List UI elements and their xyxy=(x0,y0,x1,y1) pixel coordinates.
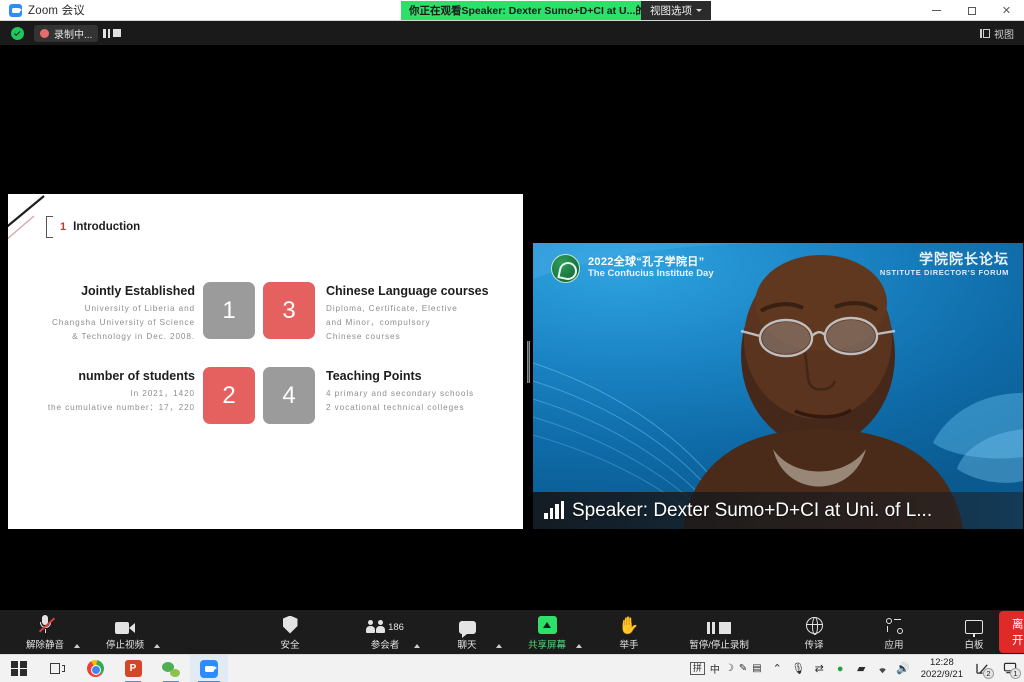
maximize-icon xyxy=(968,7,976,15)
green-status-icon[interactable]: ● xyxy=(830,655,851,682)
meeting-controls-toolbar: 解除静音 停止视频 安全 xyxy=(0,610,1024,654)
whiteboard-label: 白板 xyxy=(964,637,983,651)
window-title: Zoom 会议 xyxy=(28,2,85,18)
security-button[interactable]: 安全 xyxy=(265,610,315,654)
microphone-muted-icon xyxy=(39,614,52,634)
forum-title-cn: 学院院长论坛 xyxy=(880,251,1009,268)
pause-stop-recording-icon xyxy=(707,614,731,634)
speaker-video-tile[interactable]: 2022全球“孔子学院日” The Confucius Institute Da… xyxy=(533,243,1023,529)
volume-icon[interactable]: 🔊 xyxy=(893,655,914,682)
chat-options-chevron-up-icon[interactable] xyxy=(496,644,502,648)
participants-label: 参会者 xyxy=(371,637,400,651)
powerpoint-icon: P xyxy=(125,660,142,677)
clock[interactable]: 12:28 2022/9/21 xyxy=(914,657,970,681)
stop-video-button[interactable]: 停止视频 xyxy=(100,610,150,654)
audio-options-chevron-up-icon[interactable] xyxy=(74,644,80,648)
slide-number-tile: 3 xyxy=(263,282,315,339)
notifications-badge: 2 xyxy=(983,668,994,679)
zoom-meeting-window: Zoom 会议 你正在观看Speaker: Dexter Sumo+D+CI a… xyxy=(0,0,1024,682)
speaker-name-strip: Speaker: Dexter Sumo+D+CI at Uni. of L..… xyxy=(533,492,1023,529)
apps-button[interactable]: 应用 xyxy=(869,610,919,654)
video-overlay-banner: 2022全球“孔子学院日” The Confucius Institute Da… xyxy=(533,243,1023,293)
stop-icon[interactable] xyxy=(113,29,121,37)
raise-hand-icon: ✋ xyxy=(618,614,639,634)
leave-meeting-button[interactable]: 离开 xyxy=(999,611,1024,653)
shield-check-icon xyxy=(11,27,24,40)
network-icon[interactable] xyxy=(872,655,893,682)
slide-section-title: Introduction xyxy=(73,221,140,233)
share-screen-label: 共享屏幕 xyxy=(528,637,566,651)
pause-stop-recording-label: 暂停/停止录制 xyxy=(689,637,749,651)
action-center-badge: 1 xyxy=(1010,668,1021,679)
ime-mode-key: 拼 xyxy=(690,662,705,675)
apps-label: 应用 xyxy=(884,637,903,651)
raise-hand-button[interactable]: ✋ 举手 xyxy=(604,610,654,654)
participants-control-group: 186 参会者 xyxy=(360,610,420,654)
chat-button[interactable]: 聊天 xyxy=(442,610,492,654)
view-options-label: 视图选项 xyxy=(650,3,692,18)
show-hidden-icons-chevron[interactable]: ⌃ xyxy=(767,655,788,682)
zoom-icon xyxy=(200,660,218,678)
chevron-down-icon xyxy=(696,9,702,12)
slide-number-tile: 2 xyxy=(203,367,255,424)
minimize-button[interactable] xyxy=(919,0,954,21)
bracket-icon xyxy=(46,216,53,238)
screen-share-banner-text: 你正在观看Speaker: Dexter Sumo+D+CI at U...的屏… xyxy=(409,3,667,18)
slide-block-line: the cumulative number：17，220 xyxy=(8,401,195,415)
screen-share-banner: 你正在观看Speaker: Dexter Sumo+D+CI at U...的屏… xyxy=(401,1,675,20)
slide-block-text: number of students In 2021，1420 the cumu… xyxy=(8,367,203,415)
system-tray: 拼 中 ☽ ✎ ▤ ⌃ 🎙 ⇄ ● ▰ 🔊 12:28 2022/9/21 xyxy=(685,655,1024,682)
slide-number-tile: 1 xyxy=(203,282,255,339)
ime-indicator[interactable]: 拼 中 ☽ ✎ ▤ xyxy=(685,661,767,676)
settings-sliders-icon[interactable]: ⇄ xyxy=(809,655,830,682)
share-screen-button[interactable]: 共享屏幕 xyxy=(522,610,572,654)
participants-options-chevron-up-icon[interactable] xyxy=(414,644,420,648)
share-control-group: 共享屏幕 xyxy=(522,610,582,654)
slide-block-line: and Minor，compulsory xyxy=(326,316,518,330)
zoom-taskbar-button[interactable] xyxy=(190,655,228,682)
meeting-stage: 1 Introduction Jointly Established Unive… xyxy=(0,45,1024,610)
banner-text: 2022全球“孔子学院日” The Confucius Institute Da… xyxy=(588,256,714,280)
slide-block-title: Teaching Points xyxy=(326,369,518,383)
wifi-icon xyxy=(875,662,890,675)
slide-block-title: number of students xyxy=(8,369,195,383)
slide-block-line: Diploma, Certificate, Elective xyxy=(326,302,518,316)
slide-row: number of students In 2021，1420 the cumu… xyxy=(8,367,523,452)
banner-title-cn: 2022全球“孔子学院日” xyxy=(588,256,714,269)
title-bar-left: Zoom 会议 xyxy=(0,2,85,18)
view-toggle-button[interactable]: 视图 xyxy=(980,26,1014,41)
windows-start-icon xyxy=(11,661,27,677)
recording-label: 录制中... xyxy=(54,26,92,41)
chrome-icon xyxy=(87,660,104,677)
video-frame: 2022全球“孔子学院日” The Confucius Institute Da… xyxy=(533,243,1023,529)
participants-button[interactable]: 186 参会者 xyxy=(360,610,410,654)
clock-date: 2022/9/21 xyxy=(921,669,963,681)
forum-title: 学院院长论坛 NSTITUTE DIRECTOR'S FORUM xyxy=(880,251,1009,277)
share-screen-icon xyxy=(538,614,557,634)
forum-title-en: NSTITUTE DIRECTOR'S FORUM xyxy=(880,268,1009,277)
shared-screen-slide[interactable]: 1 Introduction Jointly Established Unive… xyxy=(8,194,523,529)
stop-video-label: 停止视频 xyxy=(106,637,144,651)
unmute-button[interactable]: 解除静音 xyxy=(20,610,70,654)
security-label: 安全 xyxy=(280,637,299,651)
slide-block-title: Chinese Language courses xyxy=(326,284,518,298)
drag-grip-icon xyxy=(527,341,530,383)
apps-icon xyxy=(886,614,903,634)
minimize-icon xyxy=(932,10,941,11)
whiteboard-button[interactable]: 白板 xyxy=(949,610,999,654)
windows-taskbar: P 拼 中 ☽ ✎ ▤ ⌃ 🎙 ⇄ ● ▰ xyxy=(0,654,1024,682)
slide-block-line: In 2021，1420 xyxy=(8,387,195,401)
recording-status-pill: 录制中... xyxy=(34,25,98,42)
interpretation-button[interactable]: 传译 xyxy=(789,610,839,654)
task-view-button[interactable] xyxy=(38,655,76,682)
leave-meeting-label: 离开 xyxy=(1012,619,1024,647)
slide-block-line: & Technology in Dec. 2008. xyxy=(8,330,195,344)
chat-icon xyxy=(459,614,476,634)
speaker-name-label: Speaker: Dexter Sumo+D+CI at Uni. of L..… xyxy=(572,500,932,522)
slide-number-tiles: 1 3 xyxy=(203,282,318,339)
raise-hand-label: 举手 xyxy=(619,637,638,651)
pause-stop-recording-button[interactable]: 暂停/停止录制 xyxy=(694,610,744,654)
slide-block-line: 4 primary and secondary schools xyxy=(326,387,518,401)
participants-count: 186 xyxy=(388,622,404,633)
slide-section-header: 1 Introduction xyxy=(46,216,140,238)
slide-block-line: Changsha University of Science xyxy=(8,316,195,330)
camera-icon xyxy=(115,614,135,634)
slide-number-tile: 4 xyxy=(263,367,315,424)
wechat-button[interactable] xyxy=(152,655,190,682)
banner-title-en: The Confucius Institute Day xyxy=(588,269,714,280)
audio-level-icon xyxy=(544,502,564,519)
clock-time: 12:28 xyxy=(930,657,954,669)
close-icon: ✕ xyxy=(1002,4,1011,17)
slide-number-tiles: 2 4 xyxy=(203,367,318,424)
video-options-chevron-up-icon[interactable] xyxy=(154,644,160,648)
view-layout-icon xyxy=(980,29,990,38)
view-options-button[interactable]: 视图选项 xyxy=(641,1,711,20)
notifications-button[interactable]: 2 xyxy=(970,655,997,682)
slide-block-text: Chinese Language courses Diploma, Certif… xyxy=(318,282,518,344)
window-controls: ✕ xyxy=(919,0,1024,21)
participants-icon: 186 xyxy=(366,614,404,634)
recording-controls xyxy=(103,29,121,38)
slide-content-grid: Jointly Established University of Liberi… xyxy=(8,282,523,452)
chat-label: 聊天 xyxy=(457,637,476,651)
chrome-button[interactable] xyxy=(76,655,114,682)
audio-control-group: 解除静音 xyxy=(20,610,80,654)
window-title-bar: Zoom 会议 你正在观看Speaker: Dexter Sumo+D+CI a… xyxy=(0,0,1024,21)
ime-moon-icon: ☽ xyxy=(725,663,734,674)
zoom-logo-icon xyxy=(9,4,22,17)
slide-block-line: 2 vocational technical colleges xyxy=(326,401,518,415)
record-dot-icon xyxy=(40,29,49,38)
action-center-button[interactable]: 1 xyxy=(997,655,1024,682)
ime-language: 中 xyxy=(710,661,720,676)
slide-block-title: Jointly Established xyxy=(8,284,195,298)
shield-icon xyxy=(283,614,298,634)
slide-row: Jointly Established University of Liberi… xyxy=(8,282,523,367)
video-control-group: 停止视频 xyxy=(100,610,160,654)
unmute-label: 解除静音 xyxy=(26,637,64,651)
confucius-institute-logo-icon xyxy=(551,254,580,283)
maximize-button[interactable] xyxy=(954,0,989,21)
slide-section-number: 1 xyxy=(60,221,66,233)
close-button[interactable]: ✕ xyxy=(989,0,1024,21)
recording-bar: 录制中... 视图 xyxy=(0,21,1024,45)
interpretation-globe-icon xyxy=(806,614,823,634)
task-view-icon xyxy=(50,662,65,675)
interpretation-label: 传译 xyxy=(804,637,823,651)
slide-block-line: Chinese courses xyxy=(326,330,518,344)
share-options-chevron-up-icon[interactable] xyxy=(576,644,582,648)
whiteboard-icon xyxy=(965,614,983,634)
chat-control-group: 聊天 xyxy=(442,610,502,654)
ime-toolbox-icon: ▤ xyxy=(752,663,761,674)
view-toggle-label: 视图 xyxy=(994,26,1014,41)
powerpoint-button[interactable]: P xyxy=(114,655,152,682)
panel-split-handle[interactable] xyxy=(523,194,533,529)
ime-pen-icon: ✎ xyxy=(739,663,747,674)
device-icon[interactable]: ▰ xyxy=(851,655,872,682)
wechat-icon xyxy=(162,661,180,677)
slide-block-text: Jointly Established University of Liberi… xyxy=(8,282,203,344)
start-button[interactable] xyxy=(0,655,38,682)
microphone-icon[interactable]: 🎙 xyxy=(788,655,809,682)
slide-block-line: University of Liberia and xyxy=(8,302,195,316)
pause-icon[interactable] xyxy=(103,29,110,38)
slide-block-text: Teaching Points 4 primary and secondary … xyxy=(318,367,518,415)
